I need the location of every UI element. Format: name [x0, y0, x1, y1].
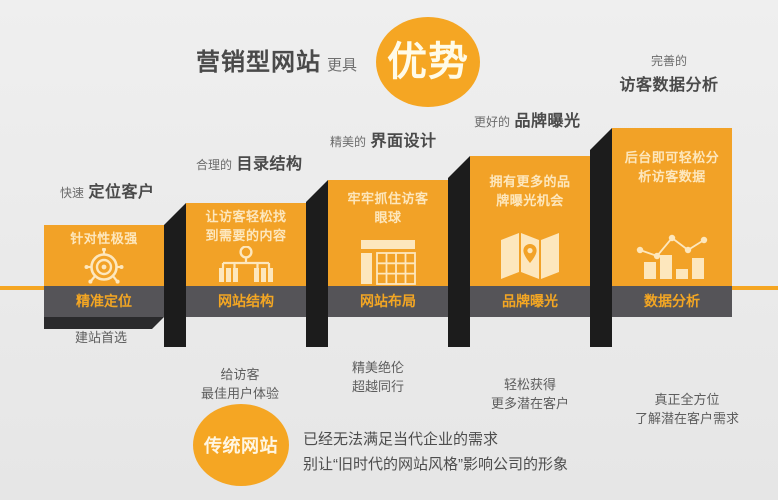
- step-3-bottom-label: 精美绝伦 超越同行: [352, 358, 404, 396]
- target-icon: [44, 248, 164, 286]
- step-series: 精准定位 针对性极强: [0, 0, 778, 500]
- step-2-bottom-line-2: 最佳用户体验: [200, 384, 280, 403]
- step-4-caption: 拥有更多的品 牌曝光机会: [470, 172, 590, 210]
- step-4-top-thin: 更好的: [474, 115, 510, 129]
- step-3-caption-line-2: 眼球: [328, 208, 448, 227]
- step-5-top-thin: 完善的: [604, 52, 734, 69]
- step-2-top-label: 合理的 目录结构: [196, 150, 302, 174]
- bar-chart-icon: [612, 218, 732, 286]
- step-1-top-thin: 快速: [60, 186, 84, 200]
- step-4-top-bold: 品牌曝光: [514, 113, 580, 130]
- step-4-caption-line-2: 牌曝光机会: [470, 191, 590, 210]
- step-5-bottom-line-2: 了解潜在客户需求: [612, 409, 762, 428]
- infographic-canvas: 营销型网站 更具 优势 精准定位 针对性极强: [0, 0, 778, 500]
- step-4-bottom-line-2: 更多潜在客户: [470, 394, 590, 413]
- step-1-bottom-label: 建站首选: [75, 328, 127, 347]
- step-1-bottom-line-1: 建站首选: [75, 328, 127, 347]
- step-1-top-label: 快速 定位客户: [60, 178, 154, 202]
- step-4-caption-line-1: 拥有更多的品: [470, 172, 590, 191]
- step-5-caption-line-2: 析访客数据: [612, 167, 732, 186]
- step-2-bar-label: 网站结构: [186, 294, 306, 308]
- step-4-bottom-label: 轻松获得 更多潜在客户: [470, 375, 590, 413]
- step-1-top-bold: 定位客户: [88, 184, 154, 201]
- step-2-bottom-line-1: 给访客: [200, 365, 280, 384]
- step-2-caption-line-2: 到需要的内容: [186, 226, 306, 245]
- step-2-caption-line-1: 让访客轻松找: [186, 207, 306, 226]
- step-1-caption: 针对性极强: [44, 229, 164, 248]
- map-pin-icon: [470, 226, 590, 286]
- layout-grid-icon: [328, 238, 448, 286]
- step-3-bar-label: 网站布局: [328, 294, 448, 308]
- traditional-site-line-1: 已经无法满足当代企业的需求: [303, 427, 568, 452]
- step-2-caption: 让访客轻松找 到需要的内容: [186, 207, 306, 245]
- step-5-top-bold: 访客数据分析: [604, 71, 734, 95]
- step-4-top-label: 更好的 品牌曝光: [474, 107, 580, 131]
- step-3-top-label: 精美的 界面设计: [330, 127, 436, 151]
- step-3-bottom-line-1: 精美绝伦: [352, 358, 404, 377]
- step-5-bottom-line-1: 真正全方位: [612, 390, 762, 409]
- step-3-bottom-line-2: 超越同行: [352, 377, 404, 396]
- step-2-top-thin: 合理的: [196, 158, 232, 172]
- step-5-caption-line-1: 后台即可轻松分: [612, 148, 732, 167]
- sitemap-icon: [186, 246, 306, 286]
- step-5-bar-label: 数据分析: [612, 294, 732, 308]
- step-1-bar-label: 精准定位: [44, 294, 164, 308]
- traditional-site-badge-label: 传统网站: [204, 432, 278, 458]
- step-2-top-bold: 目录结构: [236, 156, 302, 173]
- step-3-caption-line-1: 牢牢抓住访客: [328, 189, 448, 208]
- step-5-caption: 后台即可轻松分 析访客数据: [612, 148, 732, 186]
- step-3-caption: 牢牢抓住访客 眼球: [328, 189, 448, 227]
- traditional-site-text: 已经无法满足当代企业的需求 别让“旧时代的网站风格”影响公司的形象: [303, 427, 568, 477]
- traditional-site-line-2: 别让“旧时代的网站风格”影响公司的形象: [303, 452, 568, 477]
- traditional-site-badge: 传统网站: [193, 404, 289, 486]
- step-2-bottom-label: 给访客 最佳用户体验: [200, 365, 280, 403]
- step-4-bar-label: 品牌曝光: [470, 294, 590, 308]
- step-3-top-thin: 精美的: [330, 135, 366, 149]
- step-4-bottom-line-1: 轻松获得: [470, 375, 590, 394]
- step-3-top-bold: 界面设计: [370, 133, 436, 150]
- step-5-top-label: 完善的 访客数据分析: [604, 52, 734, 95]
- step-5-bottom-label: 真正全方位 了解潜在客户需求: [612, 390, 762, 428]
